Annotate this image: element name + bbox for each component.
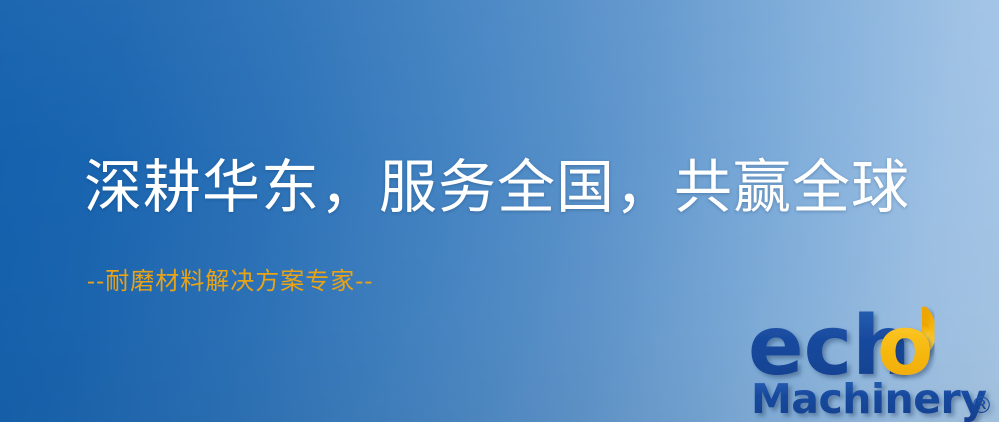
logo-tagline: Machinery ® <box>751 375 993 422</box>
banner-headline: 深耕华东，服务全国，共赢全球 <box>84 152 910 222</box>
logo-registered-mark: ® <box>970 393 993 419</box>
hero-banner: 深耕华东，服务全国，共赢全球 --耐磨材料解决方案专家-- <box>0 0 999 422</box>
company-logo[interactable]: ech o Machinery ® <box>748 296 999 422</box>
banner-subtitle: --耐磨材料解决方案专家-- <box>87 266 373 296</box>
logo-machinery-text: Machinery <box>751 375 986 422</box>
